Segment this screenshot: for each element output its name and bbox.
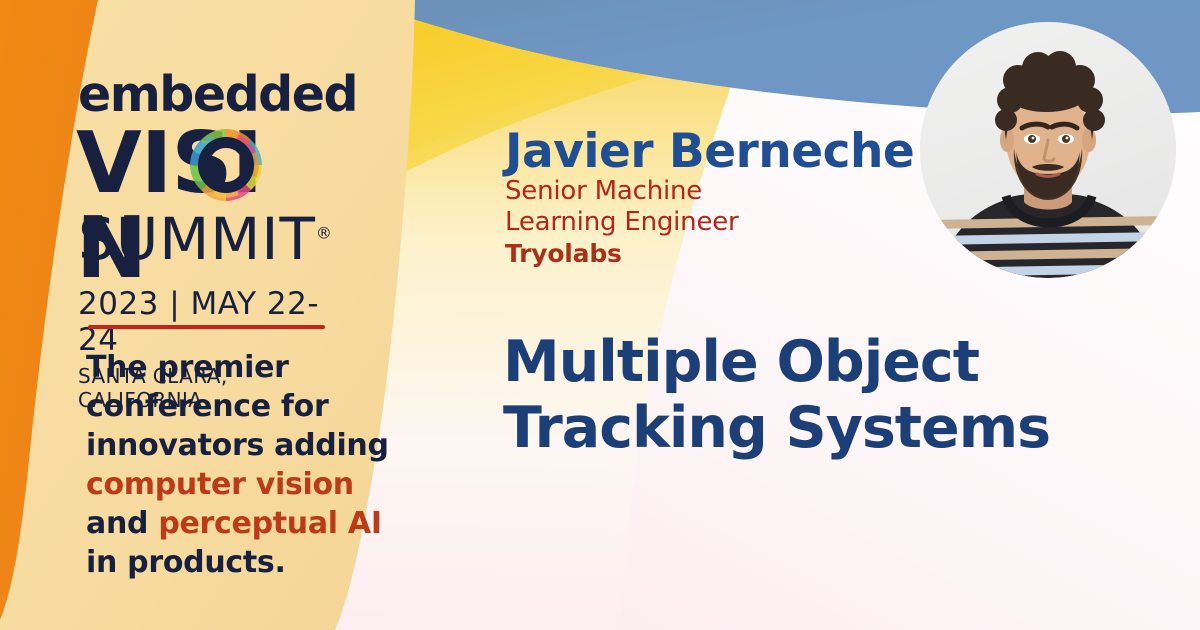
headshot-illustration (920, 22, 1176, 278)
speaker-role-line-2: Learning Engineer (505, 207, 925, 238)
logo-vision-tail: N (76, 199, 146, 298)
divider-rule (88, 325, 325, 329)
logo-word-embedded: embedded (78, 70, 348, 119)
speaker-name: Javier Berneche (505, 128, 925, 176)
tagline-part3: in products. (86, 545, 286, 580)
talk-title-line-1: Multiple Object (503, 330, 1103, 396)
tagline-part2: and (86, 506, 158, 541)
tagline-highlight-computer-vision: computer vision (86, 467, 354, 502)
event-branding-panel: embedded VISIN (0, 0, 430, 630)
speaker-info: Javier Berneche Senior Machine Learning … (505, 128, 925, 269)
talk-title: Multiple Object Tracking Systems (503, 330, 1103, 461)
talk-title-line-2: Tracking Systems (503, 396, 1103, 462)
event-tagline: The premier conference for innovators ad… (86, 348, 406, 582)
colorful-iris-icon (186, 125, 266, 205)
speaker-headshot (920, 22, 1176, 278)
tagline-part1: The premier conference for innovators ad… (86, 350, 389, 463)
speaker-promo-banner: embedded VISIN (0, 0, 1200, 630)
speaker-company: Tryolabs (505, 239, 925, 269)
tagline-highlight-perceptual-ai: perceptual AI (158, 506, 381, 541)
logo-word-vision: VISIN (78, 121, 348, 206)
speaker-role-line-1: Senior Machine (505, 176, 925, 207)
